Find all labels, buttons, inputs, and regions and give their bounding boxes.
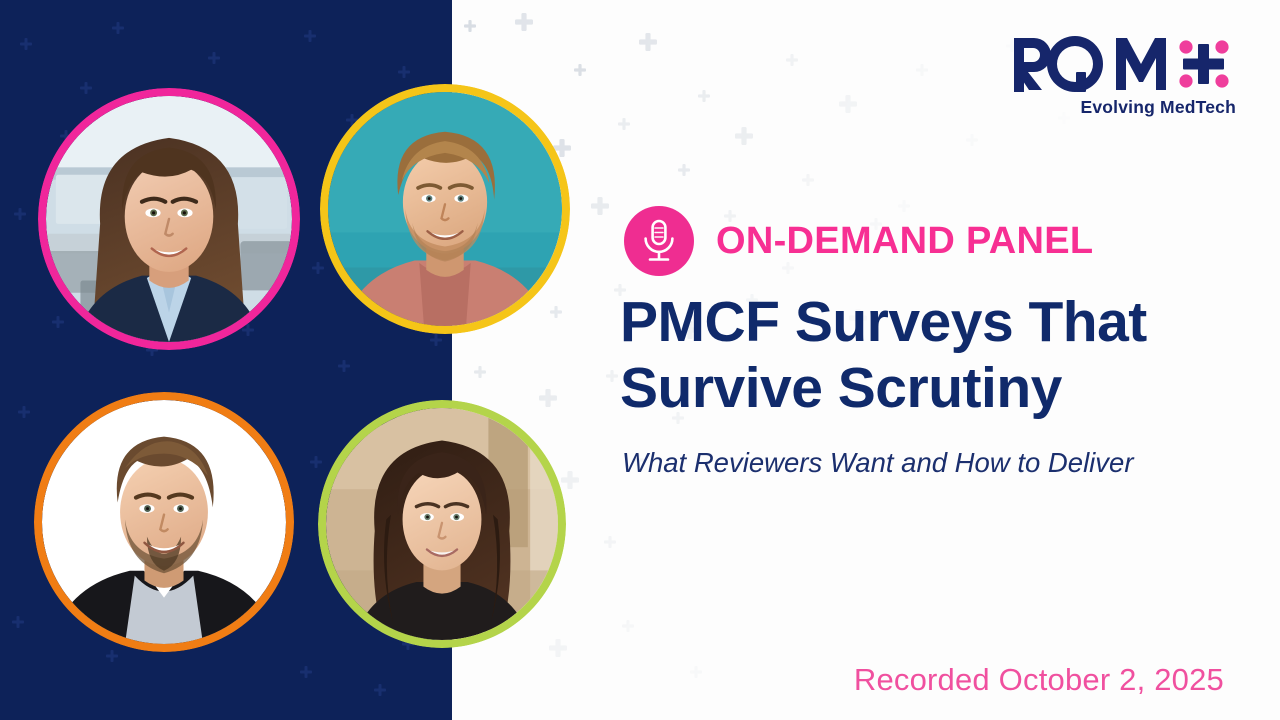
rqm-logo: Evolving MedTech bbox=[1012, 34, 1238, 118]
panelist-photo-top-left bbox=[38, 88, 300, 350]
microphone-icon bbox=[624, 206, 694, 276]
recorded-date: Recorded October 2, 2025 bbox=[854, 662, 1224, 698]
headline-line-2: Survive Scrutiny bbox=[620, 356, 1270, 422]
headline-line-1: PMCF Surveys That bbox=[620, 290, 1270, 356]
badge-label: ON-DEMAND PANEL bbox=[716, 222, 1093, 260]
panelist-photo-top-right bbox=[320, 84, 570, 334]
subtitle: What Reviewers Want and How to Deliver bbox=[622, 446, 1280, 479]
on-demand-badge: ON-DEMAND PANEL bbox=[624, 206, 1093, 276]
logo-tagline: Evolving MedTech bbox=[1012, 97, 1238, 118]
rqm-plus-logo-icon bbox=[1012, 34, 1238, 92]
slide-canvas: Evolving MedTech ON-DEMAND PANEL PM bbox=[0, 0, 1280, 720]
panelist-photo-bottom-left bbox=[34, 392, 294, 652]
page-title: PMCF Surveys That Survive Scrutiny bbox=[620, 290, 1270, 421]
panelist-photo-bottom-right bbox=[318, 400, 566, 648]
